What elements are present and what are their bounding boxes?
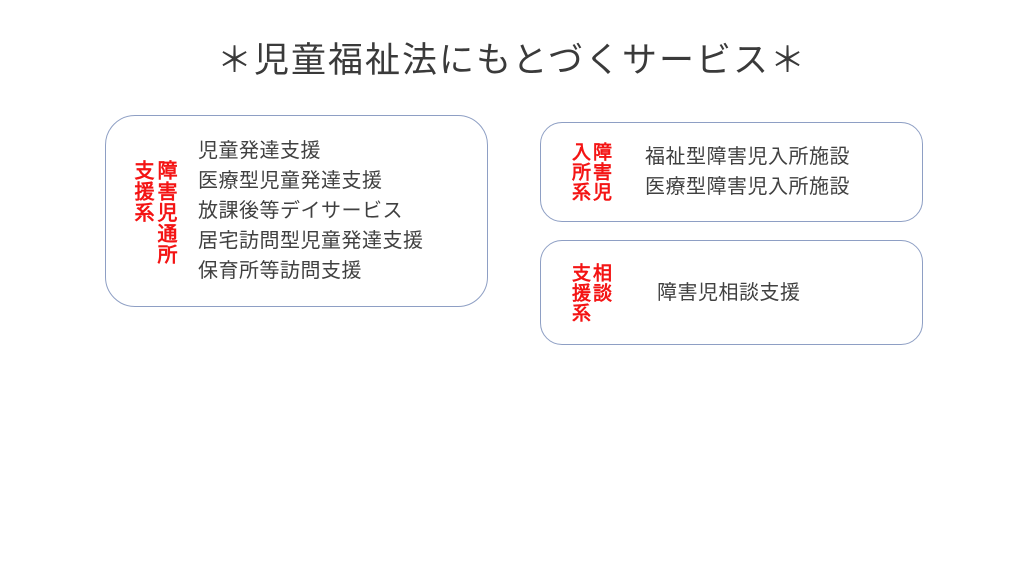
category-box-sodan-shien: 相談 支援系 障害児相談支援 [540,240,923,345]
category-label-sodan-shien: 相談 支援系 [569,263,611,323]
service-item: 医療型児童発達支援 [198,166,424,196]
service-list-nyusho: 福祉型障害児入所施設 医療型障害児入所施設 [645,142,850,202]
service-item: 障害児相談支援 [657,278,801,308]
category-label-nyusho: 障害児 入所系 [569,142,611,202]
service-list-sodan-shien: 障害児相談支援 [657,278,801,308]
slide-canvas: ＊児童福祉法にもとづくサービス＊ 障害児通所 支援系 児童発達支援 医療型児童発… [0,0,1024,576]
category-label-column-1: 障害児 [590,142,611,202]
service-item: 福祉型障害児入所施設 [645,142,850,172]
slide-title: ＊児童福祉法にもとづくサービス＊ [0,40,1024,82]
category-box-nyusho: 障害児 入所系 福祉型障害児入所施設 医療型障害児入所施設 [540,122,923,222]
service-item: 保育所等訪問支援 [198,256,424,286]
category-label-column-1: 障害児通所 [153,160,176,265]
service-item: 児童発達支援 [198,136,424,166]
service-item: 放課後等デイサービス [198,196,424,226]
category-label-tsusho-shien: 障害児通所 支援系 [130,160,176,265]
category-label-column-2: 入所系 [569,142,590,202]
category-label-column-2: 支援系 [130,160,153,223]
category-box-tsusho-shien: 障害児通所 支援系 児童発達支援 医療型児童発達支援 放課後等デイサービス 居宅… [105,115,488,307]
category-label-column-1: 相談 [590,263,611,303]
service-item: 医療型障害児入所施設 [645,172,850,202]
category-label-column-2: 支援系 [569,263,590,323]
service-list-tsusho-shien: 児童発達支援 医療型児童発達支援 放課後等デイサービス 居宅訪問型児童発達支援 … [198,136,424,286]
service-item: 居宅訪問型児童発達支援 [198,226,424,256]
